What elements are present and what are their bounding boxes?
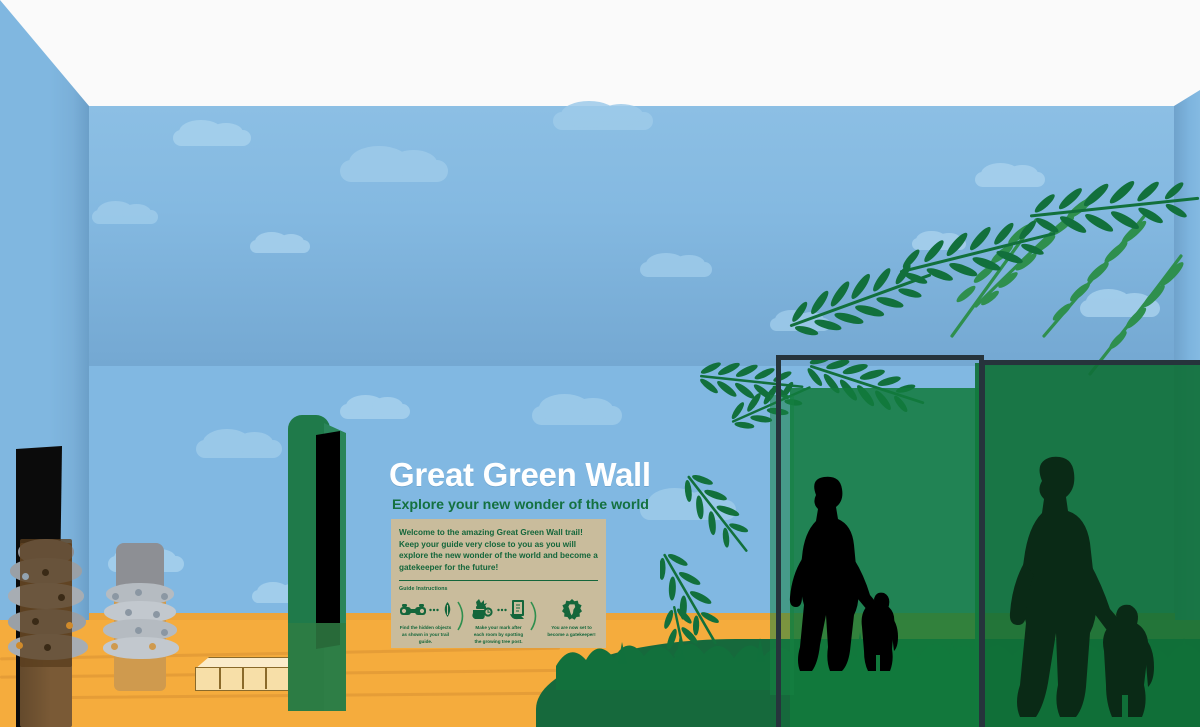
welcome-sign: Great Green Wall Explore your new wonder… [389, 458, 611, 648]
sign-body-text: Welcome to the amazing Great Green Wall … [399, 527, 598, 574]
chevron-right-icon-1 [456, 595, 468, 636]
tree-post-short-stud-1 [135, 589, 142, 596]
glass-frame-top-right [979, 360, 1200, 365]
binoculars-icon [399, 603, 427, 618]
tree-post-short [103, 543, 181, 691]
sign-divider [399, 580, 598, 582]
cloud-2 [173, 130, 251, 146]
tree-post-short-stud-9 [149, 643, 156, 650]
tree-post-tall-stud-7 [66, 622, 73, 629]
interactive-kiosk[interactable] [288, 415, 352, 711]
sign-step-3-caption: You are now set to become a gatekeeper! [541, 625, 602, 639]
cloud-1 [553, 112, 653, 130]
tree-post-tall-stud-5 [16, 642, 23, 649]
ceiling-surface [0, 0, 1200, 106]
tree-post-short-stud-5 [153, 611, 160, 618]
cloud-5 [92, 210, 158, 224]
glass-frame-top-left [776, 355, 984, 360]
tree-post-short-stud-2 [112, 593, 119, 600]
tree-post-short-stud-8 [111, 643, 118, 650]
stamp-hand-icon [471, 599, 495, 621]
sign-title: Great Green Wall [389, 458, 611, 491]
chevron-right-icon-2 [529, 595, 541, 636]
tree-post-short-stud-4 [125, 609, 132, 616]
kiosk-base-tint [288, 623, 346, 711]
trail-guide-page-icon [510, 600, 526, 620]
africa-badge-icon [561, 599, 583, 621]
cloud-3 [340, 160, 448, 182]
sign-subtitle: Explore your new wonder of the world [392, 497, 611, 513]
visitor-pair-front [780, 475, 910, 680]
sign-step-1-icons [395, 595, 456, 625]
tree-post-tall-stud-2 [22, 573, 29, 580]
sign-step-1: Find the hidden objects as shown in your… [395, 595, 456, 646]
sign-guide-heading: Guide Instructions [399, 586, 598, 592]
visitor-pair-back [1000, 455, 1160, 727]
sign-step-3-icons [541, 595, 602, 625]
sign-step-2: Make your mark after each room by spotti… [468, 595, 529, 646]
tree-post-tall-stud-4 [32, 618, 39, 625]
glass-frame-post-left [776, 355, 781, 727]
tree-post-tall-stud-6 [44, 644, 51, 651]
tree-post-tall-stud-1 [42, 569, 49, 576]
sign-info-panel: Welcome to the amazing Great Green Wall … [391, 519, 606, 648]
cloud-13 [532, 406, 622, 425]
bench-slat-3 [265, 667, 267, 689]
cloud-6 [250, 240, 310, 253]
dotted-arrow-icon [497, 607, 508, 613]
tree-post-short-stud-3 [161, 593, 168, 600]
tree-post-short-stud-7 [161, 629, 168, 636]
cloud-11 [196, 440, 282, 458]
glass-frame-post-mid [979, 360, 985, 727]
sign-step-2-caption: Make your mark after each room by spotti… [468, 625, 529, 646]
sign-step-3: You are now set to become a gatekeeper! [541, 595, 602, 639]
sign-step-2-icons [468, 595, 529, 625]
sign-step-1-caption: Find the hidden objects as shown in your… [395, 625, 456, 646]
tree-post-tall-stud-3 [58, 594, 65, 601]
dotted-arrow-icon [429, 607, 440, 613]
exhibition-render: Great Green Wall Explore your new wonder… [0, 0, 1200, 727]
bench-slat-2 [242, 667, 244, 689]
tree-post-tall [8, 446, 88, 727]
kiosk-screen[interactable] [316, 431, 340, 649]
seed-leaf-icon [442, 602, 453, 618]
bench-slat-1 [219, 667, 221, 689]
tree-post-short-stud-6 [135, 627, 142, 634]
sign-steps: Find the hidden objects as shown in your… [395, 595, 602, 646]
